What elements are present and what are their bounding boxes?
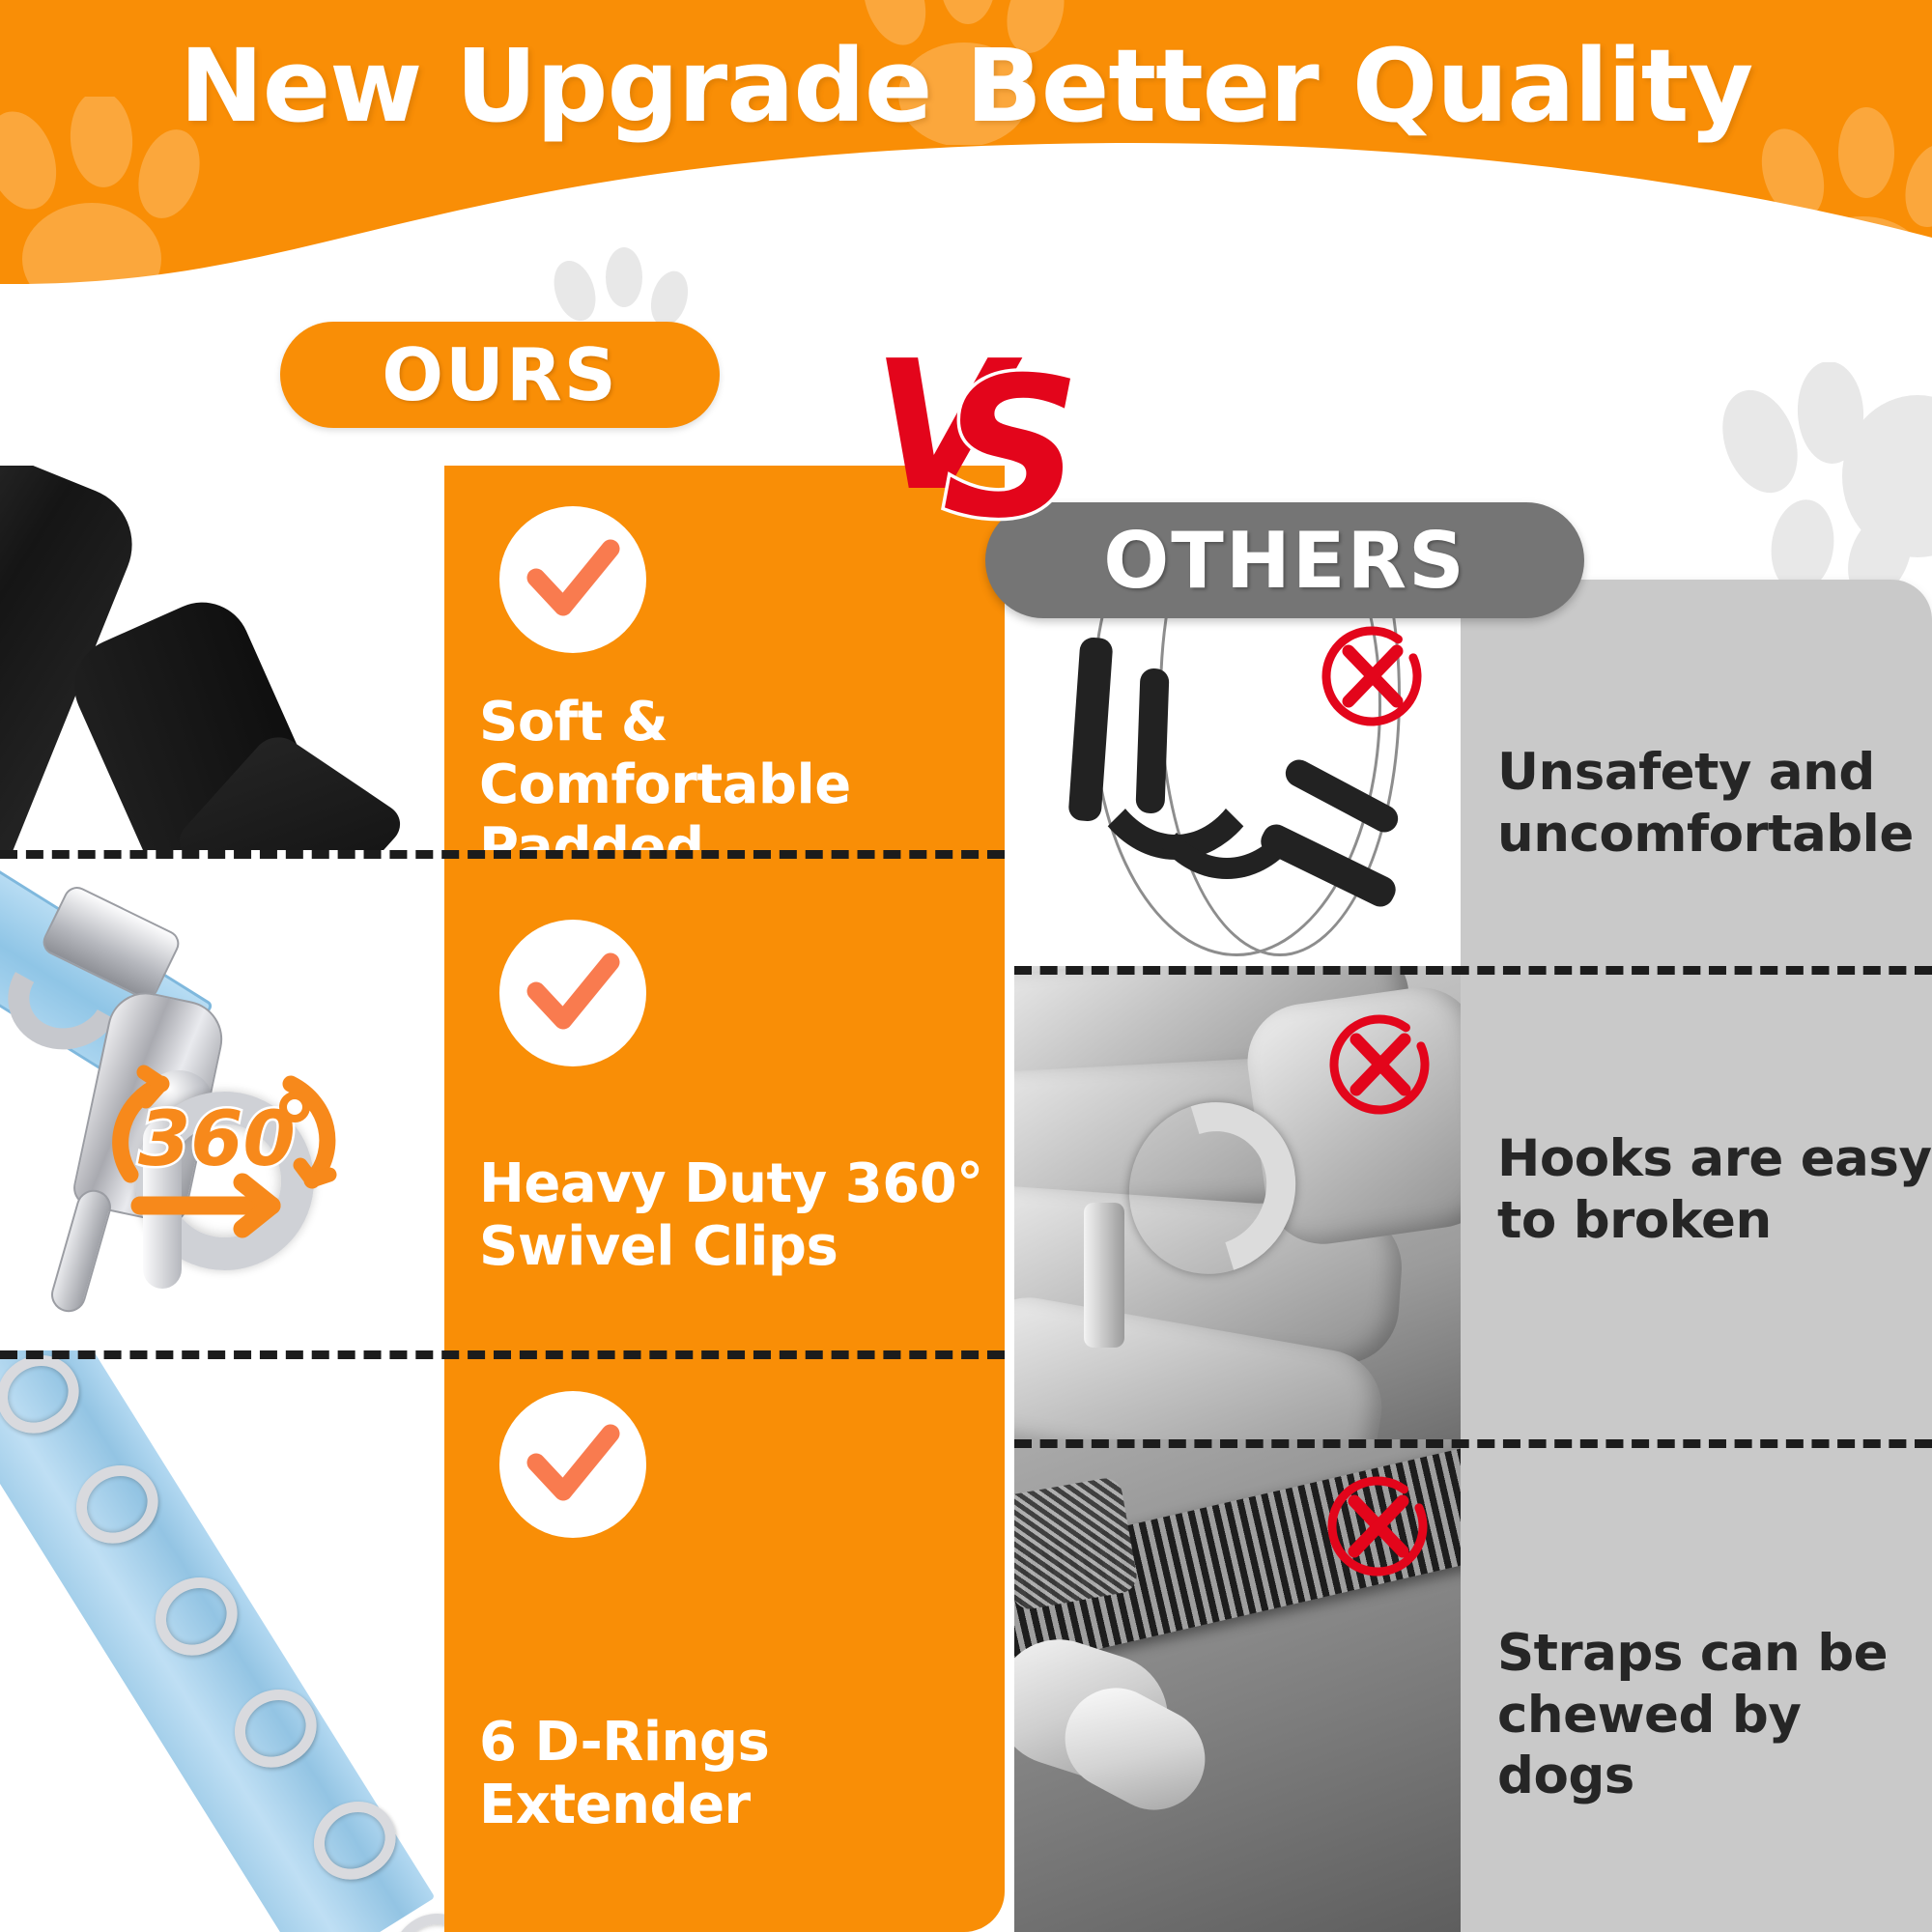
check-icon bbox=[499, 506, 646, 653]
blue-strap-d-rings-photo bbox=[0, 1350, 444, 1932]
header-banner: New Upgrade Better Quality bbox=[0, 0, 1932, 290]
ours-feature-label: Heavy Duty 360° Swivel Clips bbox=[479, 1153, 1020, 1279]
x-icon bbox=[1314, 618, 1430, 734]
ours-feature-row: 6 D-Rings Extender bbox=[0, 1350, 1005, 1932]
360-degree-badge: 360 bbox=[101, 1061, 362, 1244]
others-feature-label: Hooks are easy to broken bbox=[1497, 1128, 1932, 1251]
page-title: New Upgrade Better Quality bbox=[0, 27, 1932, 145]
others-feature-text-panel: Hooks are easy to broken bbox=[1461, 966, 1932, 1439]
x-icon bbox=[1320, 1468, 1435, 1584]
others-feature-row: Straps can be chewed by dogs bbox=[1014, 1439, 1932, 1932]
ours-feature-text-panel: 6 D-Rings Extender bbox=[444, 1350, 1005, 1932]
x-icon bbox=[1321, 1007, 1437, 1122]
paw-print-icon bbox=[1710, 362, 1932, 613]
black-padded-handle-photo bbox=[0, 466, 444, 850]
others-feature-text-panel: Straps can be chewed by dogs bbox=[1461, 1439, 1932, 1932]
others-feature-label: Unsafety and uncomfortable bbox=[1497, 742, 1932, 865]
vs-logo: V S bbox=[874, 343, 1096, 536]
ours-feature-row: 360 Heavy Duty 360° Swivel Clips bbox=[0, 850, 1005, 1350]
row-divider bbox=[0, 1350, 1005, 1359]
others-comparison-column: Unsafety and uncomfortable Hooks are eas… bbox=[1014, 580, 1932, 1932]
check-icon bbox=[499, 920, 646, 1066]
ours-comparison-column: Soft & Comfortable Padded bbox=[0, 466, 1005, 1932]
ours-feature-text-panel: Heavy Duty 360° Swivel Clips bbox=[444, 850, 1005, 1350]
others-badge-label: OTHERS bbox=[1103, 516, 1465, 606]
row-divider bbox=[1014, 1439, 1932, 1448]
svg-text:360: 360 bbox=[138, 1096, 296, 1183]
others-feature-row: Hooks are easy to broken bbox=[1014, 966, 1932, 1439]
silver-swivel-clip-photo: 360 bbox=[0, 850, 444, 1350]
others-feature-label: Straps can be chewed by dogs bbox=[1497, 1623, 1932, 1807]
ours-feature-row: Soft & Comfortable Padded bbox=[0, 466, 1005, 850]
check-icon bbox=[499, 1391, 646, 1538]
ours-badge[interactable]: OURS bbox=[280, 322, 720, 428]
others-feature-text-panel: Unsafety and uncomfortable bbox=[1461, 580, 1932, 966]
ours-badge-label: OURS bbox=[382, 332, 617, 417]
header-wave-divider bbox=[0, 120, 1932, 290]
row-divider bbox=[0, 850, 1005, 859]
svg-text:S: S bbox=[942, 343, 1081, 536]
others-feature-row: Unsafety and uncomfortable bbox=[1014, 580, 1932, 966]
row-divider bbox=[1014, 966, 1932, 975]
ours-feature-label: 6 D-Rings Extender bbox=[479, 1712, 1020, 1837]
